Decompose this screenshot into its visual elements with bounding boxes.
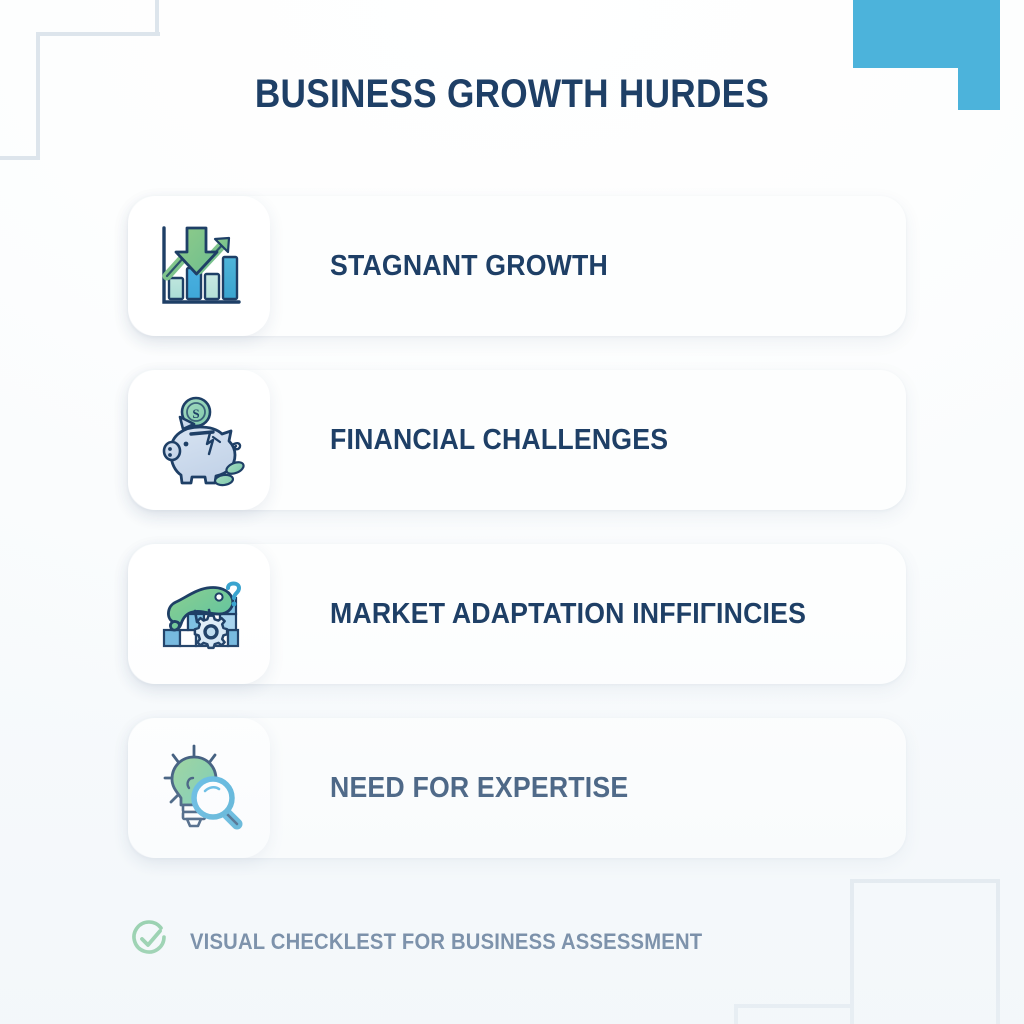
hurdle-card[interactable]: NEED FOR EXPERTISE: [128, 718, 906, 858]
icon-tile: [128, 718, 270, 858]
corner-decoration-top-left-line-left: [36, 32, 40, 160]
cracked-piggy-bank-icon: S: [147, 388, 251, 492]
hurdle-card-label: STAGNANT GROWTH: [330, 250, 608, 283]
lightbulb-magnifier-icon: [147, 736, 251, 840]
hurdle-card-list: STAGNANT GROWTH: [128, 196, 906, 892]
icon-tile: [128, 196, 270, 336]
hurdle-card-label: NEED FOR EXPERTISE: [330, 772, 628, 805]
page-title: BUSINESS GROWTH HURDES: [61, 72, 962, 117]
corner-decoration-bottom-right-line-vertical: [996, 879, 1000, 1024]
footer: VISUAL CHECKLEST FOR BUSINESS ASSESSMENT: [128, 917, 747, 966]
hurdle-card[interactable]: S: [128, 370, 906, 510]
hurdle-card[interactable]: MARKET ADAPTATION INFFIΓINCIES: [128, 544, 906, 684]
corner-decoration-top-left-line-bottom: [0, 156, 40, 160]
footer-label: VISUAL CHECKLEST FOR BUSINESS ASSESSMENT: [190, 929, 702, 955]
hurdle-card[interactable]: STAGNANT GROWTH: [128, 196, 906, 336]
icon-tile: S: [128, 370, 270, 510]
svg-text:S: S: [192, 406, 199, 421]
corner-decoration-bottom-right-line-vertical-3: [734, 1004, 738, 1024]
check-circle-icon: [128, 917, 172, 966]
chameleon-grid-gear-icon: [147, 562, 251, 666]
hurdle-card-label: MARKET ADAPTATION INFFIΓINCIES: [330, 598, 806, 631]
corner-decoration-bottom-right-line-vertical-2: [850, 879, 854, 1024]
hurdle-card-label: FINANCIAL CHALLENGES: [330, 424, 668, 457]
bar-chart-down-arrow-icon: [147, 214, 251, 318]
corner-decoration-bottom-right-line-horizontal-2: [734, 1004, 854, 1008]
corner-decoration-top-left-line-stem: [155, 0, 159, 36]
corner-decoration-top-left-joint: [36, 156, 40, 160]
infographic-poster: BUSINESS GROWTH HURDES: [0, 0, 1024, 1024]
corner-decoration-top-right-bar-vertical: [958, 0, 1000, 110]
icon-tile: [128, 544, 270, 684]
corner-decoration-top-left-line-top: [40, 32, 160, 36]
